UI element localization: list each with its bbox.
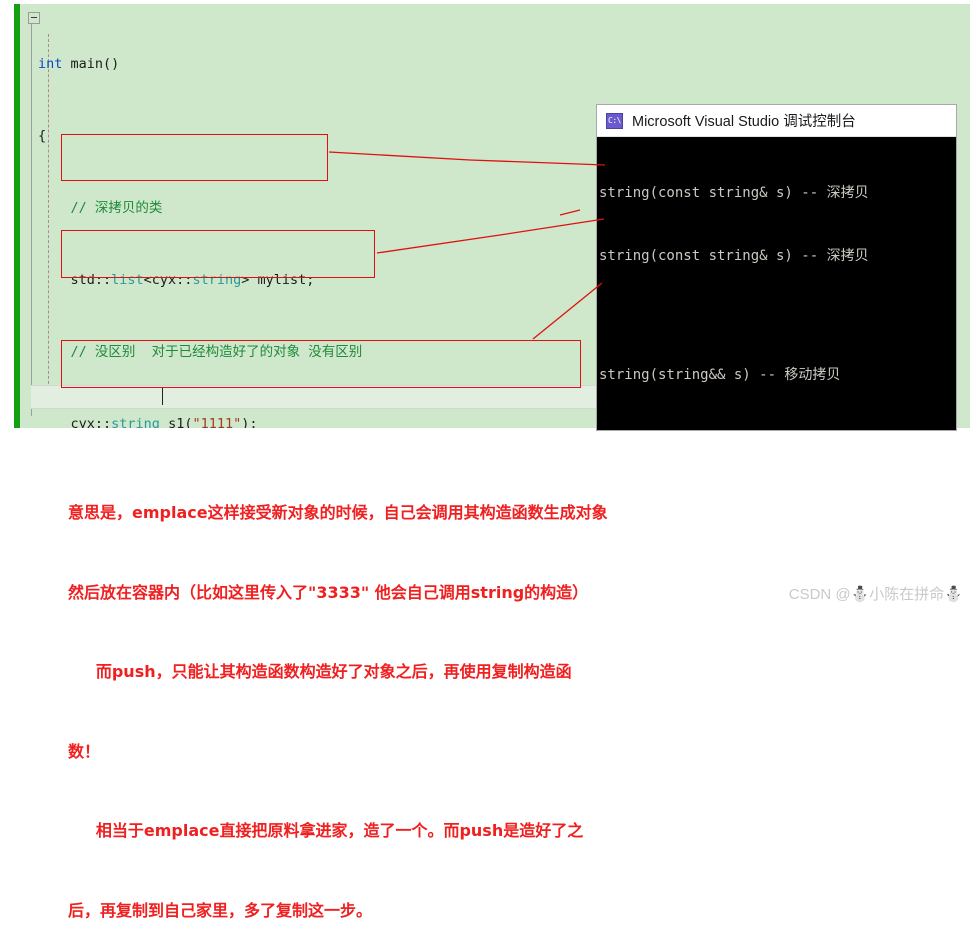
csdn-watermark: CSDN @⛄小陈在拼命⛄ <box>789 583 963 604</box>
code-line-6: cyx::string s1("1111"); <box>38 412 490 428</box>
annotation-line: 而push，只能让其构造函数构造好了对象之后，再使用复制构造函 <box>68 659 898 686</box>
code-line-4: std::list<cyx::string> mylist; <box>38 268 490 292</box>
console-title-text: Microsoft Visual Studio 调试控制台 <box>632 110 856 131</box>
source-code[interactable]: int main() { // 深拷贝的类 std::list<cyx::str… <box>38 4 490 428</box>
annotation-line: 后，再复制到自己家里，多了复制这一步。 <box>68 898 898 925</box>
console-title-bar[interactable]: C:\ Microsoft Visual Studio 调试控制台 <box>597 105 956 137</box>
red-annotation-text: 意思是，emplace这样接受新对象的时候，自己会调用其构造函数生成对象 然后放… <box>68 447 898 951</box>
code-line-1: int main() <box>38 52 490 76</box>
outlining-column <box>31 16 32 416</box>
console-output: string(const string& s) -- 深拷贝 string(co… <box>597 137 956 430</box>
code-line-2: { <box>38 124 490 148</box>
command-prompt-icon-label: C:\ <box>608 117 621 125</box>
command-prompt-icon: C:\ <box>606 113 623 129</box>
console-line: string(string&& s) -- 移动拷贝 <box>599 365 956 386</box>
console-line: string(const string& s) -- 深拷贝 <box>599 246 956 267</box>
annotation-line: 相当于emplace直接把原料拿进家，造了一个。而push是造好了之 <box>68 818 898 845</box>
console-blank-line <box>599 309 956 323</box>
debug-console-window[interactable]: C:\ Microsoft Visual Studio 调试控制台 string… <box>597 105 956 430</box>
console-line: string(const string& s) -- 深拷贝 <box>599 183 956 204</box>
code-line-5: // 没区别 对于已经构造好了的对象 没有区别 <box>38 340 490 364</box>
code-line-3: // 深拷贝的类 <box>38 196 490 220</box>
change-indicator-bar <box>14 4 20 428</box>
annotation-line: 数！ <box>68 739 898 766</box>
console-line: string(string&& s) -- 移动拷贝 <box>599 428 956 430</box>
annotation-line: 然后放在容器内（比如这里传入了"3333" 他会自己调用string的构造） <box>68 580 898 607</box>
annotation-line: 意思是，emplace这样接受新对象的时候，自己会调用其构造函数生成对象 <box>68 500 898 527</box>
